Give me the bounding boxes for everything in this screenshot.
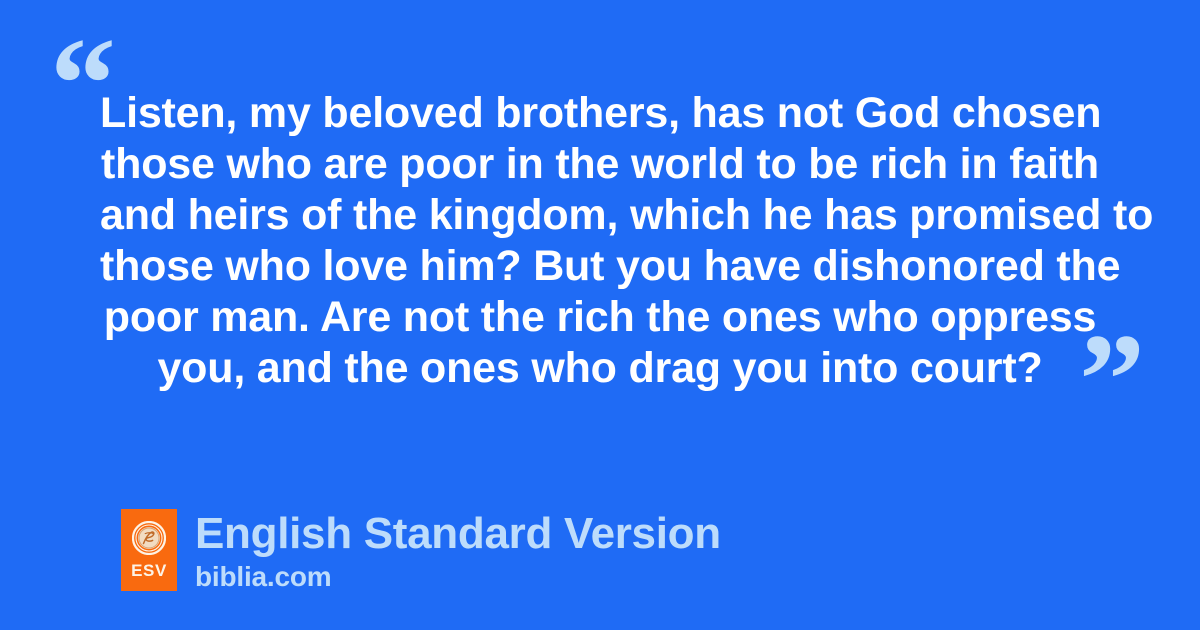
verse-share-card: “ Listen, my beloved brothers, has not G… <box>0 0 1200 630</box>
verse-line: Listen, my beloved brothers, has not God… <box>100 88 1100 139</box>
verse-text: Listen, my beloved brothers, has not God… <box>100 88 1100 394</box>
esv-logo: ESV <box>121 509 177 591</box>
bible-version-name: English Standard Version <box>195 509 721 559</box>
verse-line: poor man. Are not the rich the ones who … <box>100 292 1100 343</box>
site-name: biblia.com <box>195 561 721 593</box>
closing-quote-icon: ” <box>1079 314 1144 446</box>
verse-line: those who love him? But you have dishono… <box>100 241 1100 292</box>
attribution-block: ESV English Standard Version biblia.com <box>121 509 721 593</box>
verse-line: those who are poor in the world to be ri… <box>100 139 1100 190</box>
verse-line: you, and the ones who drag you into cour… <box>100 343 1100 394</box>
attribution-text: English Standard Version biblia.com <box>195 509 721 593</box>
verse-line: and heirs of the kingdom, which he has p… <box>100 190 1100 241</box>
esv-seal-icon <box>132 521 166 555</box>
esv-abbreviation: ESV <box>121 562 177 579</box>
